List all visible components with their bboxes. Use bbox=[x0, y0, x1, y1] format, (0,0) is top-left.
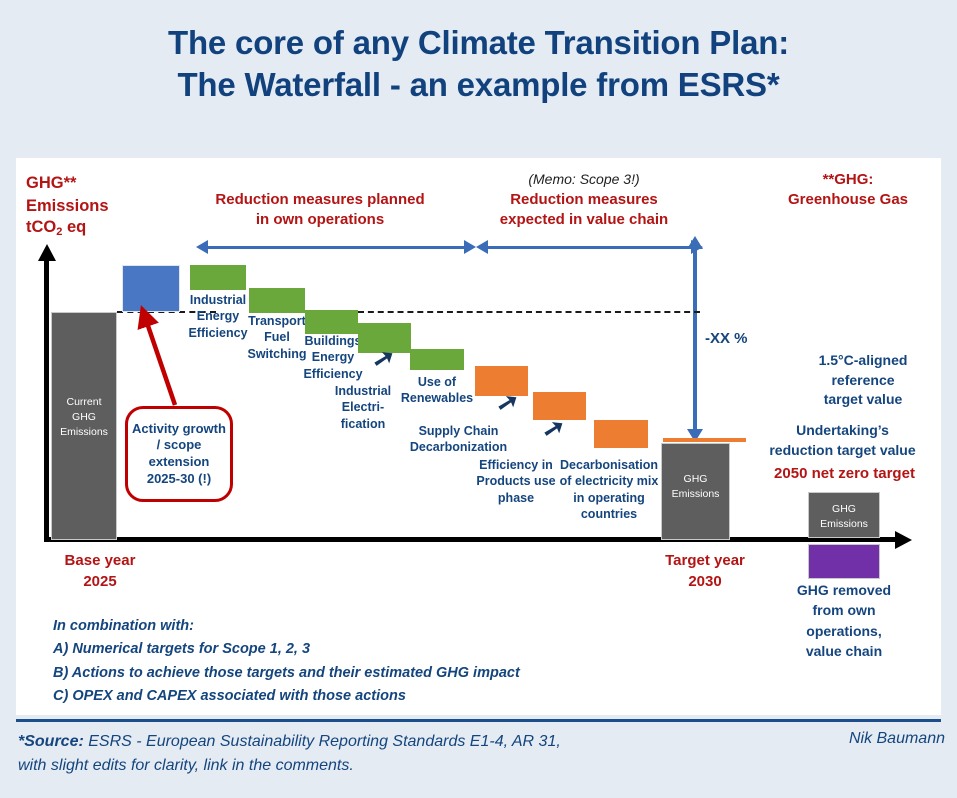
y-axis-unit: tCO2 eq bbox=[26, 218, 86, 237]
bar-use-of-renewables bbox=[410, 349, 464, 370]
combination-notes-c: C) OPEX and CAPEX associated with those … bbox=[53, 685, 520, 708]
bar-label-line-3: Emissions bbox=[52, 425, 116, 440]
combination-notes-intro: In combination with: bbox=[53, 615, 520, 638]
bar-decarbonisation-electricity-mix bbox=[594, 420, 648, 448]
label-line-4: countries bbox=[553, 506, 665, 522]
y-axis-arrow-head bbox=[38, 244, 56, 261]
header-own-operations-line-1: Reduction measures planned bbox=[185, 190, 455, 210]
ghg-removed-line-4: value chain bbox=[786, 641, 902, 661]
label-industrial-electrification: Industrial Electri- fication bbox=[327, 383, 399, 432]
value-chain-span-arrow bbox=[487, 246, 692, 249]
reduction-arrow-head-up bbox=[687, 236, 703, 249]
reference-target-value-label: 1.5°C-aligned reference target value bbox=[783, 351, 943, 410]
base-year-label: Base year 2025 bbox=[40, 550, 160, 592]
x-axis-line bbox=[44, 537, 900, 542]
y-axis-unit-subscript: 2 bbox=[56, 226, 62, 238]
header-own-operations: Reduction measures planned in own operat… bbox=[185, 190, 455, 231]
source-note: *Source: ESRS - European Sustainability … bbox=[18, 730, 718, 778]
y-axis-unit-suffix: eq bbox=[62, 218, 86, 236]
combination-notes-b: B) Actions to achieve those targets and … bbox=[53, 662, 520, 685]
label-line-2: Decarbonization bbox=[406, 439, 511, 455]
ghg-removed-line-1: GHG removed bbox=[786, 580, 902, 600]
label-efficiency-products-use-phase: Efficiency in Products use phase bbox=[470, 457, 562, 506]
footer-divider bbox=[16, 719, 941, 722]
label-line-2: Products use bbox=[470, 473, 562, 489]
label-line-1: Efficiency in bbox=[470, 457, 562, 473]
net-zero-target-label: 2050 net zero target bbox=[742, 465, 947, 482]
bar-net-zero-ghg-emissions: GHG Emissions bbox=[808, 492, 880, 538]
memo-scope3-label: (Memo: Scope 3!) bbox=[473, 171, 695, 187]
ghg-removed-line-3: operations, bbox=[786, 621, 902, 641]
bar-target-year-ghg-emissions: GHG Emissions bbox=[661, 443, 730, 540]
label-supply-chain-decarbonization: Supply Chain Decarbonization bbox=[406, 423, 511, 456]
label-line-2: Electri- bbox=[327, 399, 399, 415]
bar-industrial-energy-efficiency bbox=[190, 265, 246, 290]
bar-transport-fuel-switching bbox=[249, 288, 305, 313]
combination-notes-a: A) Numerical targets for Scope 1, 2, 3 bbox=[53, 638, 520, 661]
ghg-definition-line-2: Greenhouse Gas bbox=[758, 190, 938, 210]
own-operations-arrow-head-left bbox=[196, 240, 208, 254]
own-operations-arrow-head-right bbox=[464, 240, 476, 254]
bar-label-line-2: GHG bbox=[52, 410, 116, 425]
label-decarbonisation-electricity-mix: Decarbonisation of electricity mix in op… bbox=[553, 457, 665, 522]
value-chain-arrow-head-left bbox=[476, 240, 488, 254]
bar-current-ghg-emissions: Current GHG Emissions bbox=[51, 312, 117, 540]
page-title: The core of any Climate Transition Plan:… bbox=[0, 22, 957, 106]
reference-target-line-3: target value bbox=[783, 390, 943, 410]
reduction-percent-label: -XX % bbox=[705, 330, 748, 347]
bar-ghg-removed bbox=[808, 544, 880, 579]
ghg-removed-line-2: from own bbox=[786, 600, 902, 620]
undertaking-target-line bbox=[663, 438, 746, 442]
own-operations-span-arrow bbox=[207, 246, 465, 249]
target-year-label: Target year 2030 bbox=[645, 550, 765, 592]
y-axis-title-line-1: GHG** bbox=[26, 172, 109, 195]
label-line-3: phase bbox=[470, 490, 562, 506]
y-axis-unit-prefix: tCO bbox=[26, 218, 56, 236]
activity-growth-callout-bubble: Activity growth / scope extension 2025-3… bbox=[125, 406, 233, 502]
undertaking-target-line-1: Undertaking’s bbox=[740, 421, 945, 441]
label-line-1: Supply Chain bbox=[406, 423, 511, 439]
bar-label-line-1: Current bbox=[52, 395, 116, 410]
header-value-chain: Reduction measures expected in value cha… bbox=[473, 190, 695, 231]
ghg-definition-line-1: **GHG: bbox=[758, 170, 938, 190]
bar-label-line-2: Emissions bbox=[809, 517, 879, 532]
bar-label-line-1: GHG bbox=[809, 502, 879, 517]
reduction-percent-arrow bbox=[693, 248, 697, 434]
bar-target-year-label: GHG Emissions bbox=[662, 472, 729, 502]
label-ghg-removed: GHG removed from own operations, value c… bbox=[786, 580, 902, 661]
base-year-title: Base year bbox=[40, 550, 160, 571]
source-text-line-2: with slight edits for clarity, link in t… bbox=[18, 754, 718, 778]
header-value-chain-line-1: Reduction measures bbox=[473, 190, 695, 210]
base-year-value: 2025 bbox=[40, 571, 160, 592]
combination-notes: In combination with: A) Numerical target… bbox=[53, 615, 520, 709]
ghg-definition-label: **GHG: Greenhouse Gas bbox=[758, 170, 938, 211]
target-year-value: 2030 bbox=[645, 571, 765, 592]
activity-growth-callout-text: Activity growth / scope extension 2025-3… bbox=[132, 421, 226, 488]
y-axis-title: GHG** Emissions bbox=[26, 172, 109, 219]
label-line-3: fication bbox=[327, 416, 399, 432]
bar-label-line-1: GHG bbox=[662, 472, 729, 487]
bar-label-line-2: Emissions bbox=[662, 487, 729, 502]
source-text: ESRS - European Sustainability Reporting… bbox=[84, 733, 561, 750]
bar-buildings-energy-efficiency bbox=[305, 310, 358, 334]
header-own-operations-line-2: in own operations bbox=[185, 210, 455, 230]
baseline-dash-main bbox=[358, 311, 700, 313]
header-value-chain-line-2: expected in value chain bbox=[473, 210, 695, 230]
reference-target-line-1: 1.5°C-aligned bbox=[783, 351, 943, 371]
label-line-1: Industrial bbox=[327, 383, 399, 399]
label-line-1: Decarbonisation bbox=[553, 457, 665, 473]
y-axis-title-line-2: Emissions bbox=[26, 195, 109, 218]
reference-target-line-2: reference bbox=[783, 371, 943, 391]
y-axis-line bbox=[44, 258, 49, 542]
undertaking-target-value-label: Undertaking’s reduction target value bbox=[740, 421, 945, 460]
slide-canvas: The core of any Climate Transition Plan:… bbox=[0, 0, 957, 798]
label-line-3: in operating bbox=[553, 490, 665, 506]
author-name: Nik Baumann bbox=[770, 730, 945, 748]
label-line-1: Use of bbox=[399, 374, 475, 390]
source-label: *Source: bbox=[18, 733, 84, 750]
bar-net-zero-label: GHG Emissions bbox=[809, 502, 879, 532]
undertaking-target-line-2: reduction target value bbox=[740, 441, 945, 461]
bar-current-ghg-emissions-label: Current GHG Emissions bbox=[52, 395, 116, 440]
title-line-1: The core of any Climate Transition Plan: bbox=[168, 24, 789, 61]
x-axis-arrow-head bbox=[895, 531, 912, 549]
label-line-3: Efficiency bbox=[298, 366, 368, 382]
label-line-2: of electricity mix bbox=[553, 473, 665, 489]
label-use-of-renewables: Use of Renewables bbox=[399, 374, 475, 407]
activity-growth-pointer-arrow bbox=[135, 305, 205, 415]
label-line-1: Transport bbox=[242, 313, 312, 329]
target-year-title: Target year bbox=[645, 550, 765, 571]
label-line-2: Renewables bbox=[399, 390, 475, 406]
title-line-2: The Waterfall - an example from ESRS* bbox=[0, 64, 957, 106]
